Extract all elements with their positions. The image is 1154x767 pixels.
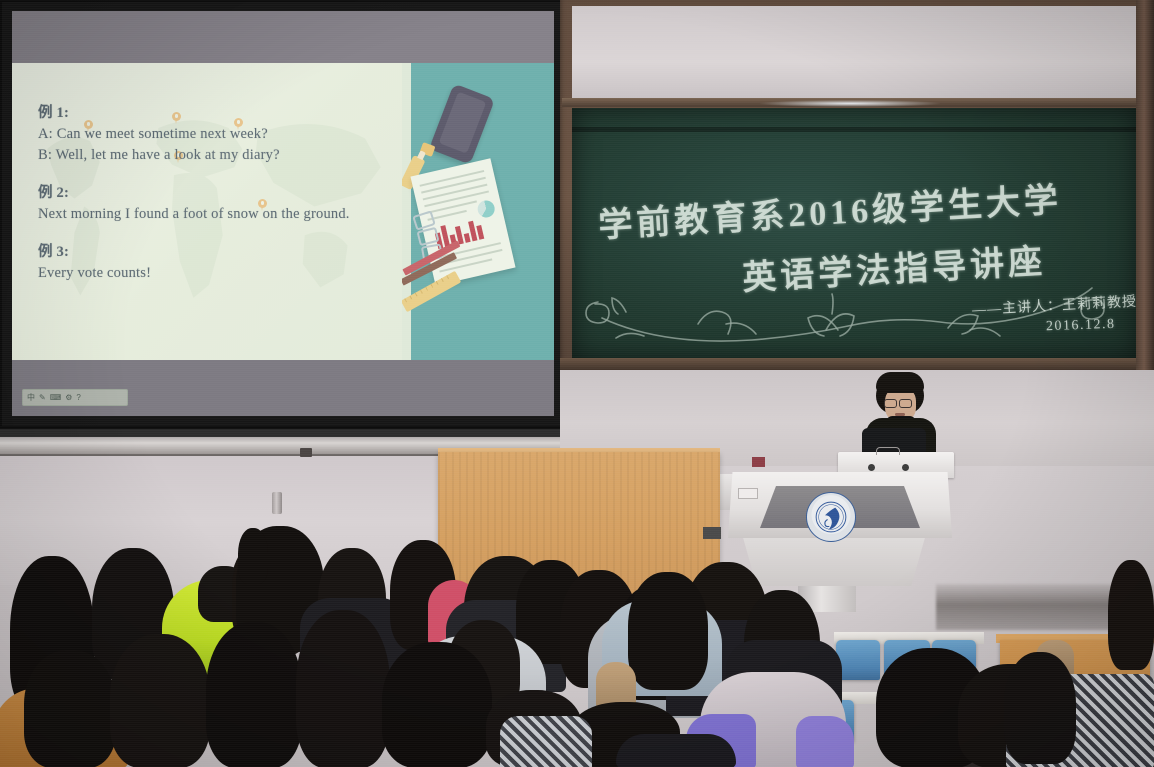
pen-icon[interactable]: ✎ — [39, 394, 46, 402]
audience-member — [296, 610, 390, 767]
rail-glare — [760, 100, 940, 107]
audience-member — [628, 572, 708, 690]
lecturer-fringe — [876, 372, 924, 393]
example-1-line-b: B: Well, let me have a look at my diary? — [38, 145, 384, 166]
podium-knob-left[interactable] — [868, 464, 875, 471]
slide-content-area: 例 1: A: Can we meet sometime next week? … — [12, 63, 402, 360]
slide-illustration-panel — [402, 63, 554, 360]
audience-member — [1108, 560, 1154, 670]
plaid-coat — [500, 716, 592, 767]
projection-screen: 例 1: A: Can we meet sometime next week? … — [2, 2, 562, 426]
keyboard-icon[interactable]: ⌨ — [50, 394, 62, 402]
audience-member — [24, 650, 116, 767]
dark-coat — [616, 734, 736, 767]
example-1-label: 例 1: — [38, 103, 384, 124]
help-icon[interactable]: ? — [76, 394, 80, 402]
audience-member — [238, 528, 268, 584]
example-3-label: 例 3: — [38, 242, 384, 263]
settings-icon[interactable]: ⚙ — [65, 394, 72, 402]
university-emblem-icon — [806, 492, 856, 542]
podium-knob-right[interactable] — [902, 464, 909, 471]
audience-member — [110, 634, 210, 767]
slide-text-block: 例 1: A: Can we meet sometime next week? … — [38, 103, 384, 284]
classroom-photo: 例 1: A: Can we meet sometime next week? … — [0, 0, 1154, 767]
example-2-line-a: Next morning I found a foot of snow on t… — [38, 204, 384, 225]
swan-crest-icon — [814, 500, 848, 534]
podium-label-plate — [738, 488, 758, 499]
panel-edge-strip — [402, 63, 411, 360]
blackboard-side-frame — [1136, 0, 1154, 400]
blackboard-rail-lower — [572, 127, 1138, 132]
presentation-slide: 例 1: A: Can we meet sometime next week? … — [12, 63, 554, 360]
smartphone-illustration — [429, 83, 495, 164]
projection-screen-surface: 例 1: A: Can we meet sometime next week? … — [12, 11, 554, 416]
ime-icon[interactable]: 中 — [27, 394, 35, 402]
audience-member — [1004, 652, 1076, 764]
ime-taskbar[interactable]: 中 ✎ ⌨ ⚙ ? — [22, 389, 128, 406]
partition-bracket — [703, 527, 721, 539]
letterbox-bottom — [12, 360, 554, 416]
upper-white-panel — [572, 6, 1140, 100]
example-2-label: 例 2: — [38, 183, 384, 204]
chalk-vine-decoration — [580, 278, 1130, 354]
wall-fixture — [272, 492, 282, 514]
lecture-seat — [836, 640, 880, 680]
podium-red-tag — [752, 457, 765, 467]
podium-carry-handle[interactable] — [876, 447, 900, 455]
rail-bracket — [300, 448, 312, 457]
example-3-line-a: Every vote counts! — [38, 263, 384, 284]
glasses-icon — [899, 399, 912, 408]
letterbox-top — [12, 11, 554, 63]
example-1-line-a: A: Can we meet sometime next week? — [38, 124, 384, 145]
glasses-icon — [884, 399, 897, 408]
audience-member — [206, 622, 302, 767]
audience-member — [382, 642, 492, 767]
purple-hood — [796, 716, 854, 767]
